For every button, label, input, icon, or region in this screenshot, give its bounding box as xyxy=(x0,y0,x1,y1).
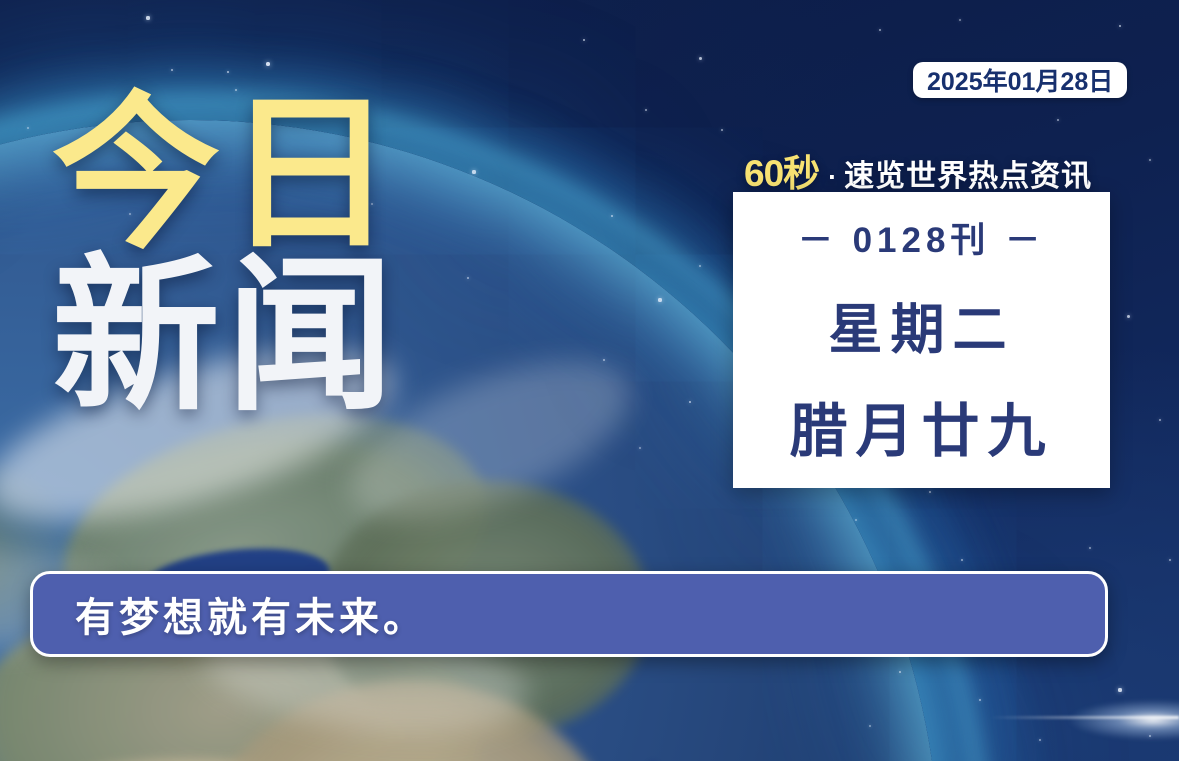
issue-number: － 0128刊 － xyxy=(798,212,1045,263)
lunar-date-label: 腊月廿九 xyxy=(789,384,1053,468)
subtitle: 60秒 · 速览世界热点资讯 xyxy=(744,143,1092,197)
subtitle-separator: · xyxy=(828,162,837,193)
date-badge: 2025年01月28日 xyxy=(913,62,1127,98)
date-card: － 0128刊 － 星期二 腊月廿九 xyxy=(733,192,1110,488)
subtitle-tagline: 速览世界热点资讯 xyxy=(844,151,1092,195)
slogan-text: 有梦想就有未来。 xyxy=(75,585,427,643)
weekday-label: 星期二 xyxy=(829,285,1015,364)
title-line-news: 新闻 xyxy=(52,258,400,414)
poster-canvas: 今日 新闻 2025年01月28日 60秒 · 速览世界热点资讯 － 0128刊… xyxy=(0,0,1179,761)
page-title: 今日 新闻 xyxy=(52,96,400,414)
slogan-banner: 有梦想就有未来。 xyxy=(30,571,1108,657)
title-line-today: 今日 xyxy=(52,96,400,252)
subtitle-seconds: 60秒 xyxy=(744,143,819,197)
